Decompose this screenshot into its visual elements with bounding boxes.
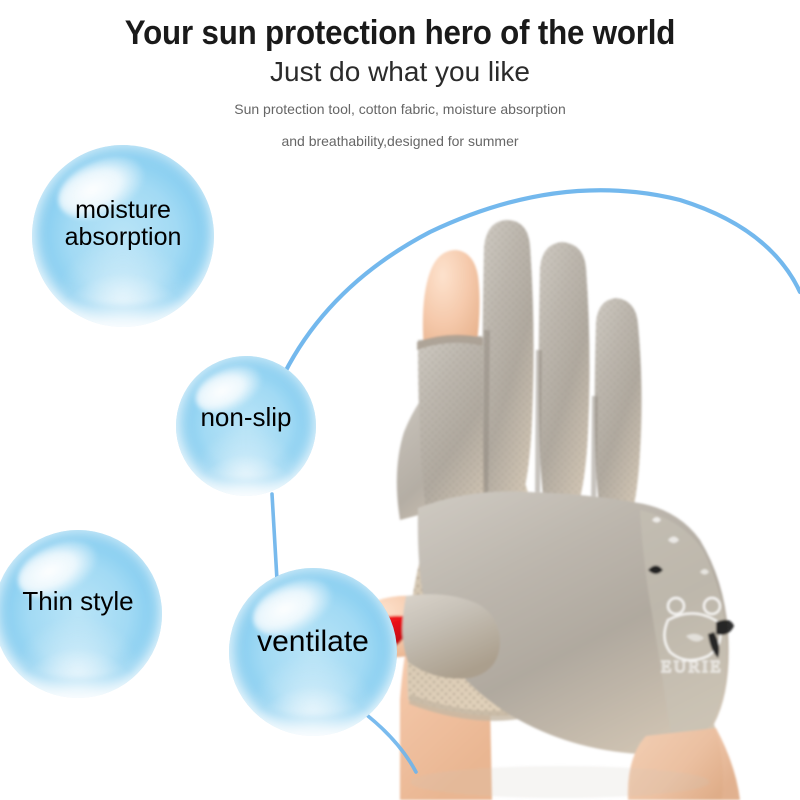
feature-bubble-label: ventilate <box>229 626 397 658</box>
feature-bubble-label: moisture absorption <box>32 197 214 250</box>
feature-bubble-moisture-absorption[interactable]: moisture absorption <box>32 145 214 327</box>
feature-bubble-non-slip[interactable]: non-slip <box>176 356 316 496</box>
embroidery-label: EURIE <box>661 657 723 676</box>
feature-bubble-ventilate[interactable]: ventilate <box>229 568 397 736</box>
product-poster: Your sun protection hero of the world Ju… <box>0 0 800 800</box>
feature-bubble-label: non-slip <box>176 404 316 432</box>
feature-bubble-label: Thin style <box>0 588 162 616</box>
feature-bubble-thin-style[interactable]: Thin style <box>0 530 162 698</box>
